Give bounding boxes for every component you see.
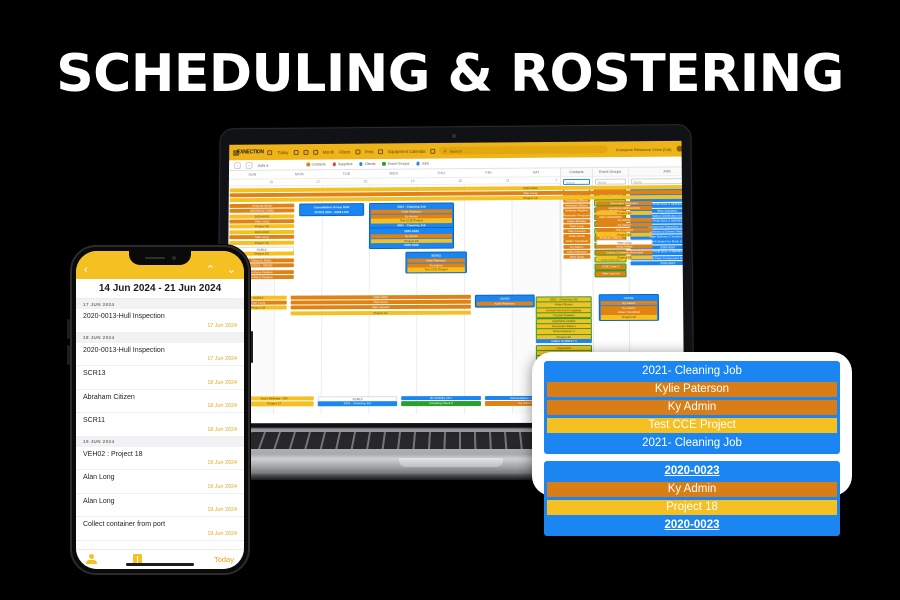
toolbar-item-4[interactable]: Filters [339,149,350,154]
panel-search-input[interactable]: Name [563,178,590,184]
legend-dot-3 [382,162,385,165]
panel-list-item[interactable]: CCE Crew 2 [595,264,627,271]
card-line: Test CCE Project [407,268,465,272]
list-item-title: SCR11 [83,417,237,424]
calendar-event-card[interactable]: VEH02Ky AdminKy AdminAdam CampbellProjec… [599,294,659,321]
list-item-date: 19 Jun 2024 [83,460,237,466]
calendar-event[interactable]: 2021 - Cleaning Job [318,402,397,406]
day-name-2: TUE [323,170,370,178]
calendar-event[interactable]: Alan Long [229,235,294,240]
person-icon[interactable] [86,554,97,565]
phone-tabbar: Today [76,549,244,569]
zoom-card-row: 2021- Cleaning Job [547,436,837,451]
card-line: Ky Admin [601,301,658,305]
list-item[interactable]: Alan Long19 Jun 2024 [76,494,244,518]
calendar-event[interactable]: GREG MURRAY II [536,339,592,343]
card-line: Ky Admin [407,263,465,267]
laptop-camera-icon [452,134,456,138]
card-line: VEH02 [600,296,657,300]
panel-list-item[interactable]: Alexander Ferguson [563,214,591,219]
calendar-event[interactable]: Alexander Ferguson [596,201,652,206]
calendar-event[interactable]: 2020-0023 [230,214,295,219]
zoom-detail-card: 2021- Cleaning JobKylie PatersonKy Admin… [532,352,852,496]
day-number-5[interactable]: 11 [465,178,513,184]
calendar-event-card[interactable]: 2020-0023Ky AdminProject 182020-0023 [369,227,454,250]
card-line: Adam Campbell [601,310,658,314]
calendar-event[interactable]: Project 12 [596,211,652,216]
toolbar-item-list: TodayMonthFiltersPrintEquipment Calendar [268,148,436,154]
calendar-event[interactable]: Alan Lamont [596,228,652,233]
panel-list-item[interactable]: 2020-0023 [631,261,685,266]
calendar-event[interactable]: AMANDA FERGUSON [596,206,652,211]
plus-icon[interactable] [378,149,383,154]
panel-list-item[interactable]: Alan Long [563,224,591,229]
calendar-legend: ContactsSuppliersClientsEvent GroupsJobs [306,162,429,167]
panel-list-item[interactable]: Nick Scott [563,255,591,260]
zoom-card-row: Test CCE Project [547,418,837,433]
list-item-title: VEH02 : Project 18 [83,451,237,458]
calendar-grid[interactable]: 2020-0023Alan LongProject 18Amanda Smith… [227,184,562,414]
card-line: SCR13 2021 - 0002 LOG [301,210,362,215]
card-line: Project 18 [601,315,658,319]
calendar-icon[interactable] [293,150,298,155]
phone-nav-row: ‹ ⌃ ⌄ [76,264,244,277]
phone-speaker [145,257,165,260]
gear-icon[interactable] [676,146,682,152]
panel-title: Contacts [561,168,592,177]
panel-list-item[interactable]: Anthony Hughes [563,208,591,213]
zoom-card-group-1: 2020-0023Ky AdminProject 182020-0023 [544,461,840,536]
list-item[interactable]: 2020-0013-Hull Inspection17 Jun 2024 [76,343,244,367]
panel-list-item[interactable]: Abraham Ellison [563,203,591,208]
calendar-event[interactable]: Including Client II [401,401,481,405]
day-name-0: SUN [229,171,276,179]
legend-dot-0 [306,163,309,166]
calendar-event[interactable]: Amanda Smith [230,204,295,209]
calendar-event[interactable]: Anita Fields [596,244,652,248]
panel-list-item[interactable]: Adam Bradley [563,219,591,224]
calendar-event[interactable]: Ky Admin [596,218,652,223]
list-item-title: Abraham Citizen [83,394,237,401]
list-item[interactable]: Alan Long19 Jun 2024 [76,470,244,494]
toolbar-item-8[interactable]: Equipment Calendar [388,148,426,153]
zoom-card-group-0: 2021- Cleaning JobKylie PatersonKy Admin… [544,361,840,454]
legend-label-2: Clients [365,162,376,166]
phone-group-header: 19 JUN 2024 [76,437,244,447]
day-name-6: SAT [512,168,560,176]
chevron-left-icon[interactable]: ‹ [234,162,241,169]
zoom-card-row: Ky Admin [547,482,837,497]
calendar-event[interactable]: Project 18 [596,233,652,237]
phone-nav-right: ⌃ ⌄ [206,265,236,276]
zoom-card-row: Ky Admin [547,400,837,415]
phone-camera-icon [172,256,176,260]
list-item-date: 19 Jun 2024 [83,484,237,490]
legend-dot-1 [333,163,336,166]
zoom-card-row: 2020-0023 [547,518,837,533]
toolbar-item-3[interactable]: Month [323,149,334,154]
panel-search-input[interactable]: Name [631,177,685,183]
panel-list-item[interactable]: Kylie Paterson [563,249,591,254]
phone-group-header: 17 JUN 2024 [76,299,244,309]
more-vertical-icon[interactable] [431,148,436,153]
list-item[interactable]: Collect container from port19 Jun 2024 [76,517,244,541]
panel-title: Event Groups [593,168,628,177]
search-icon: ⚲ [444,148,447,153]
panel-list-item[interactable]: Anita Fields [563,234,591,239]
phone-screen: ‹ ⌃ ⌄ 14 Jun 2024 - 21 Jun 2024 17 JUN 2… [76,251,244,569]
day-name-3: WED [370,169,417,177]
day-name-4: THU [417,169,464,177]
toolbar-right: Everyone Resource Crew (Cal) [616,145,684,153]
calendar-event-card[interactable]: VEH02Kylie Paterson [475,295,535,308]
calendar-event[interactable]: Project 18 [229,224,294,229]
panel-search-input[interactable]: Name [595,178,626,184]
columns-icon[interactable] [303,149,308,154]
day-number-1[interactable]: 17 [276,179,323,185]
legend-item-2: Clients [359,162,375,166]
list-item[interactable]: SCR1118 Jun 2024 [76,413,244,437]
app-logo[interactable]: EXNECTION [237,149,264,155]
legend-label-4: Jobs [422,162,429,166]
today-button[interactable]: Today [214,555,234,564]
card-line: 2020-0023 [371,243,453,248]
chevron-down-icon[interactable] [313,149,318,154]
zoom-card-row: 2020-0023 [547,464,837,479]
legend-item-4: Jobs [416,162,429,166]
search-placeholder: Search [449,148,462,153]
calendar-region: SUNMONTUEWEDTHUFRISAT 1517151918111 2020… [227,168,562,414]
calendar-event[interactable]: Alan Long [229,219,294,224]
legend-dot-2 [359,162,362,165]
phone-volume-up-button[interactable] [67,319,70,339]
day-number-4[interactable]: 18 [417,178,464,184]
card-line: VEH02 [477,296,533,300]
zoom-card-row: Project 18 [547,500,837,515]
panel-title: Jobs [628,167,684,176]
day-number-3[interactable]: 19 [370,178,417,184]
page-title: SCHEDULING & ROSTERING [0,44,900,104]
chevron-left-icon[interactable]: ‹ [84,265,88,276]
toolbar-item-6[interactable]: Print [365,149,373,154]
chevron-down-icon[interactable]: ⌄ [227,265,236,276]
list-item-date: 19 Jun 2024 [83,531,237,537]
calendar-event-card[interactable]: Cancellation Group SCRSCR13 2021 - 0002 … [299,203,364,216]
calendar-event[interactable]: Ky Admin [596,223,652,228]
phone-mockup: ‹ ⌃ ⌄ 14 Jun 2024 - 21 Jun 2024 17 JUN 2… [70,245,250,575]
list-item-title: Alan Long [83,474,237,481]
zoom-card-row: 2021- Cleaning Job [547,364,837,379]
legend-label-3: Event Groups [388,162,410,166]
day-number-6[interactable]: 1 [512,177,560,183]
laptop-trackpad [399,458,503,467]
calendar-event[interactable]: ADVANCE CARD [230,208,295,213]
list-item[interactable]: VEH02 : Project 1819 Jun 2024 [76,447,244,471]
day-number-0[interactable]: 15 [229,179,276,185]
toolbar-item-0[interactable]: Today [277,150,288,155]
list-item-title: 2020-0013-Hull Inspection [83,347,237,354]
legend-label-1: Suppliers [338,162,353,166]
chevron-up-icon[interactable]: ⌃ [206,265,215,276]
list-item-date: 17 Jun 2024 [83,356,237,362]
card-line: Ky Admin [601,305,658,309]
list-item-date: 18 Jun 2024 [83,427,237,433]
clipboard-icon[interactable] [355,149,360,154]
calendar-event-card[interactable]: SCR11Kylie PatersonKy AdminTest CCE Proj… [405,251,467,273]
list-item-date: 17 Jun 2024 [83,323,237,329]
panel-list-item[interactable]: Alan Lamont [563,229,591,234]
zoom-card-row: Kylie Paterson [547,382,837,397]
list-item-title: 2020-0013-Hull Inspection [83,313,237,320]
phone-power-button[interactable] [251,331,254,363]
calendar-event[interactable]: 3D MODEL OF I [401,396,481,400]
card-line: Kylie Paterson [477,301,533,305]
panel-list-item[interactable]: Alan Lamont [595,271,627,278]
phone-volume-down-button[interactable] [67,345,70,365]
phone-notch [129,251,191,265]
day-name-5: FRI [465,169,513,177]
global-search-input[interactable]: ⚲ Search [440,145,609,154]
calendar-event-card[interactable]: 2021 - Cleaning JobKylie PatersonKy Admi… [369,202,454,229]
panel-list-item[interactable]: Ky Admin [563,244,591,249]
chevron-right-icon[interactable]: › [246,162,253,169]
legend-dot-4 [416,162,419,165]
card-line: SCR11 [407,253,465,257]
list-item-title: SCR13 [83,370,237,377]
phone-home-indicator [126,563,194,567]
back-arrow-icon[interactable] [268,150,273,155]
list-item[interactable]: Abraham Citizen18 Jun 2024 [76,390,244,414]
legend-item-3: Event Groups [382,162,409,166]
list-item-title: Alan Long [83,498,237,505]
phone-group-header: 18 JUN 2024 [76,333,244,343]
panel-list-item[interactable]: Adam Campbell [563,239,591,244]
list-item-date: 18 Jun 2024 [83,380,237,386]
day-number-2[interactable]: 15 [323,179,370,185]
calendar-event[interactable]: 2020-0023 [229,230,294,235]
date-range-label: JUN 4 [257,162,268,167]
legend-label-0: Contacts [312,162,326,166]
phone-date-range: 14 Jun 2024 - 21 Jun 2024 [76,279,244,299]
list-item[interactable]: 2020-0013-Hull Inspection17 Jun 2024 [76,309,244,333]
account-menu[interactable]: Everyone Resource Crew (Cal) [616,146,671,151]
list-item-date: 18 Jun 2024 [83,403,237,409]
calendar-event[interactable]: Project 18 [596,255,652,259]
list-item-date: 19 Jun 2024 [83,507,237,513]
day-name-1: MON [276,170,323,178]
list-item-title: Collect container from port [83,521,237,528]
phone-schedule-list[interactable]: 17 JUN 20242020-0013-Hull Inspection17 J… [76,299,244,549]
legend-item-0: Contacts [306,162,325,166]
list-item[interactable]: SCR1318 Jun 2024 [76,366,244,390]
legend-item-1: Suppliers [333,162,353,166]
card-line: Kylie Paterson [407,258,465,262]
calendar-event[interactable]: Collect Container from port [596,250,652,254]
